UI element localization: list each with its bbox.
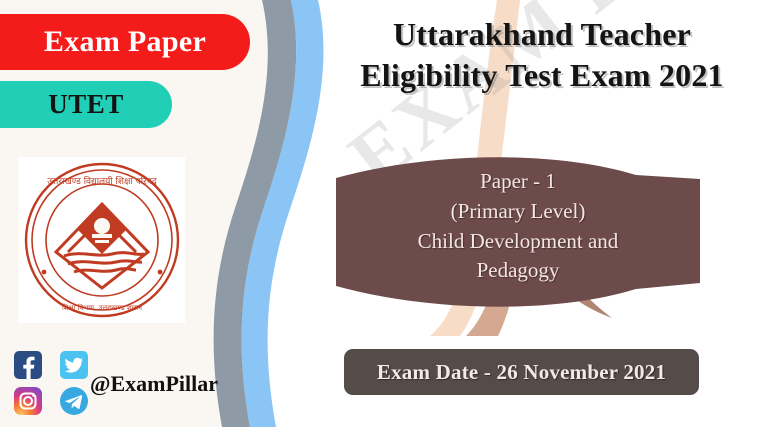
facebook-icon[interactable] xyxy=(14,351,42,379)
social-links: @ExamPillar xyxy=(14,351,244,417)
utet-badge: UTET xyxy=(0,81,172,128)
board-logo: उत्तराखण्ड विद्यालयी शिक्षा परिषद् शिक्ष… xyxy=(19,157,185,323)
twitter-icon[interactable] xyxy=(60,351,88,379)
uttarakhand-board-seal-icon: उत्तराखण्ड विद्यालयी शिक्षा परिषद् शिक्ष… xyxy=(22,160,182,320)
banner-line-1: Paper - 1 xyxy=(336,167,700,197)
telegram-icon[interactable] xyxy=(60,387,88,415)
paper-banner: Paper - 1 (Primary Level) Child Developm… xyxy=(336,155,700,310)
poster-canvas: EXAM PILLAR Exam Paper UTET xyxy=(0,0,768,427)
banner-line-3: Child Development and xyxy=(336,227,700,257)
exam-paper-badge: Exam Paper xyxy=(0,14,250,70)
exam-date-bar: Exam Date - 26 November 2021 xyxy=(344,349,699,395)
banner-text-block: Paper - 1 (Primary Level) Child Developm… xyxy=(336,167,700,286)
social-handle: @ExamPillar xyxy=(90,371,218,397)
banner-line-4: Pedagogy xyxy=(336,256,700,286)
instagram-icon[interactable] xyxy=(14,387,42,415)
banner-line-2: (Primary Level) xyxy=(336,197,700,227)
page-title: Uttarakhand Teacher Eligibility Test Exa… xyxy=(330,14,754,96)
seal-bottom-text: शिक्षा विभाग, उत्तराखण्ड शासन xyxy=(62,303,142,312)
left-panel: Exam Paper UTET उत्तराखण्ड विद्यालयी शिक xyxy=(0,0,268,427)
seal-top-text: उत्तराखण्ड विद्यालयी शिक्षा परिषद् xyxy=(47,175,158,187)
